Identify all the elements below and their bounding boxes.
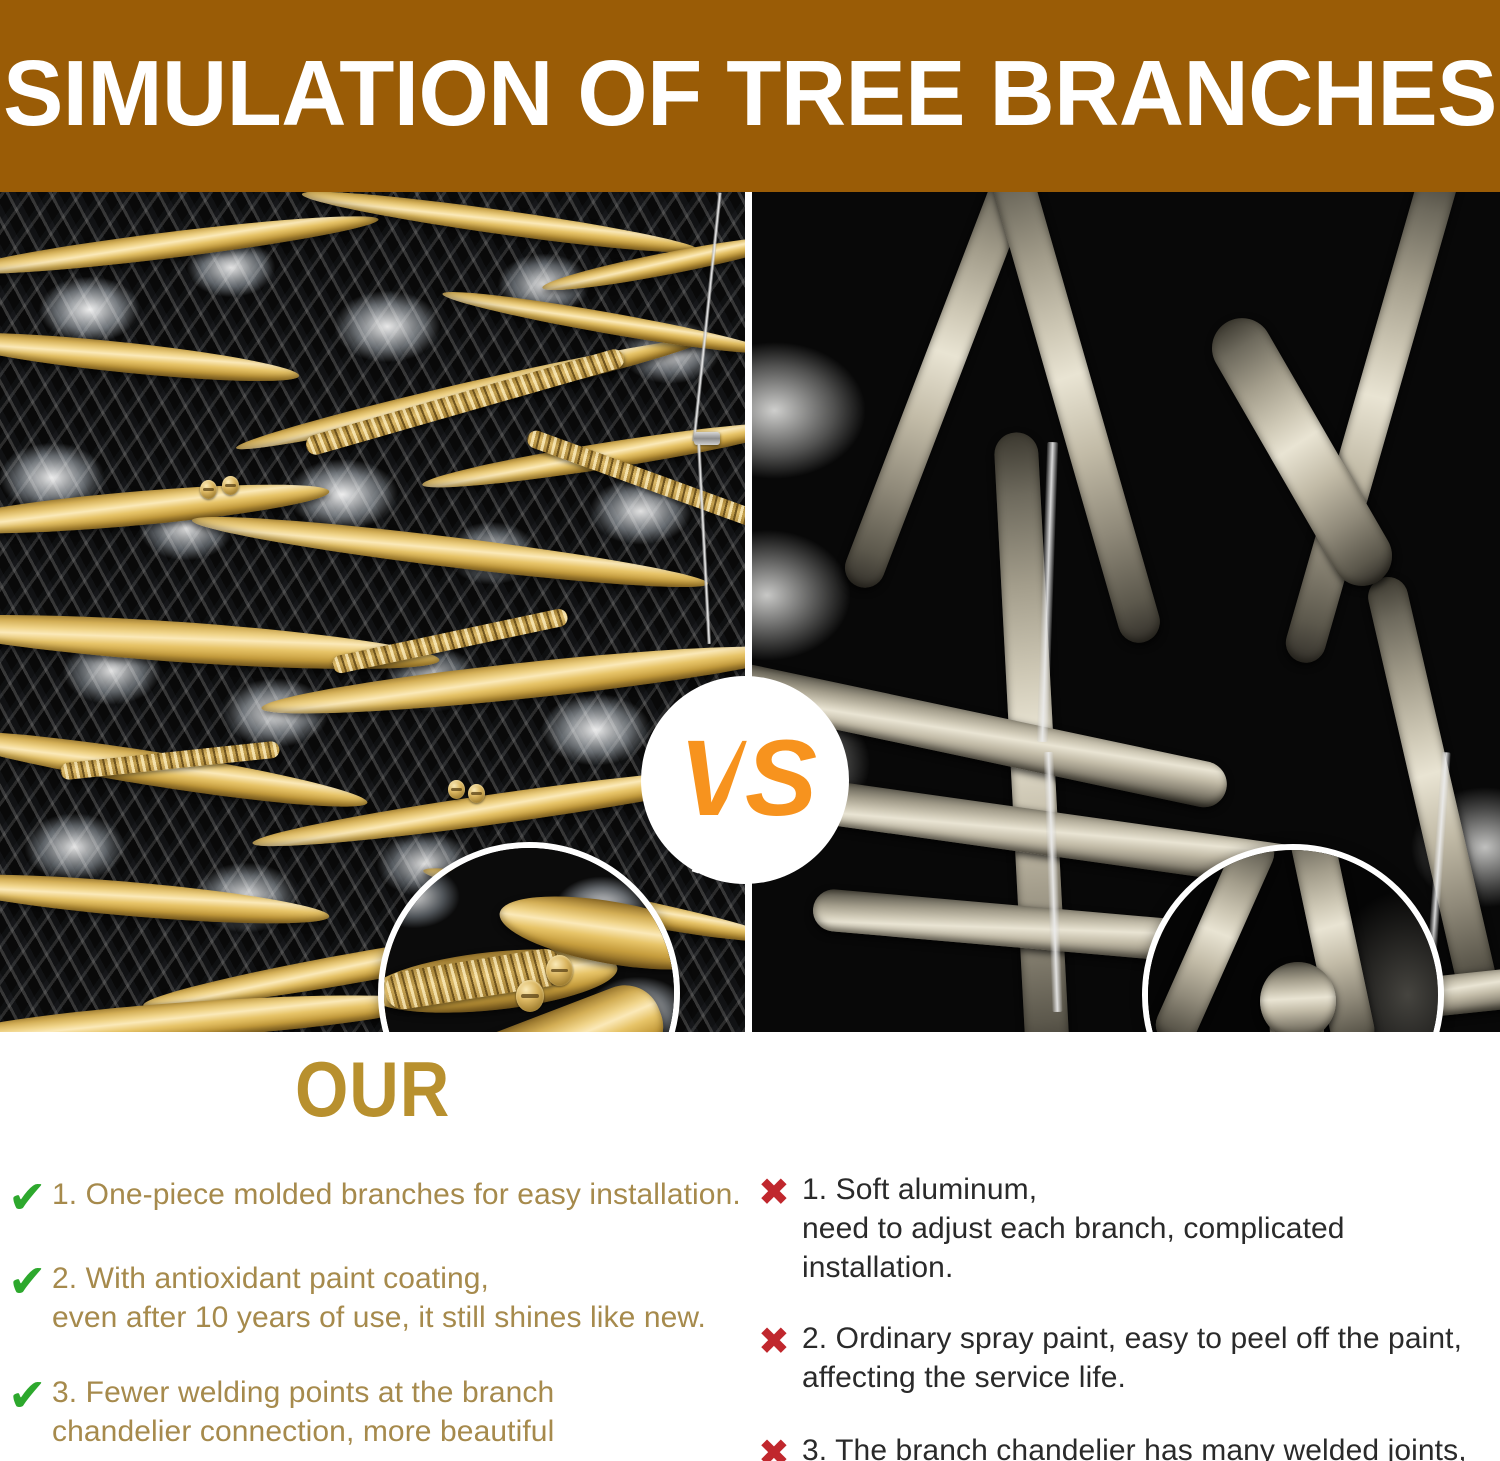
list-item-text: 3. The branch chandelier has many welded…: [802, 1431, 1467, 1461]
cross-icon: ✖: [758, 1319, 802, 1359]
list-item-text: 2. Ordinary spray paint, easy to peel of…: [802, 1319, 1462, 1397]
cross-icon: ✖: [758, 1431, 802, 1461]
list-item: ✖ 3. The branch chandelier has many weld…: [0, 1431, 1500, 1461]
page-title: SIMULATION OF TREE BRANCHES: [3, 47, 1497, 146]
comparison-section: OUR OTHER ✔ 1. One-piece molded branches…: [0, 1032, 1500, 1461]
header-banner: SIMULATION OF TREE BRANCHES: [0, 0, 1500, 192]
product-comparison-infographic: SIMULATION OF TREE BRANCHES: [0, 0, 1500, 1461]
photo-divider: [745, 192, 752, 1032]
list-item: ✖ 1. Soft aluminum, need to adjust each …: [0, 1170, 1500, 1287]
photo-comparison-strip: VS: [0, 192, 1500, 1032]
column-heading-our: OUR: [295, 1050, 450, 1128]
list-item-text: 1. Soft aluminum, need to adjust each br…: [802, 1170, 1500, 1287]
cross-icon: ✖: [758, 1170, 802, 1210]
list-item: ✖ 2. Ordinary spray paint, easy to peel …: [0, 1319, 1500, 1397]
vs-badge: VS: [641, 676, 849, 884]
bullet-list-other: ✖ 1. Soft aluminum, need to adjust each …: [0, 1170, 1500, 1461]
